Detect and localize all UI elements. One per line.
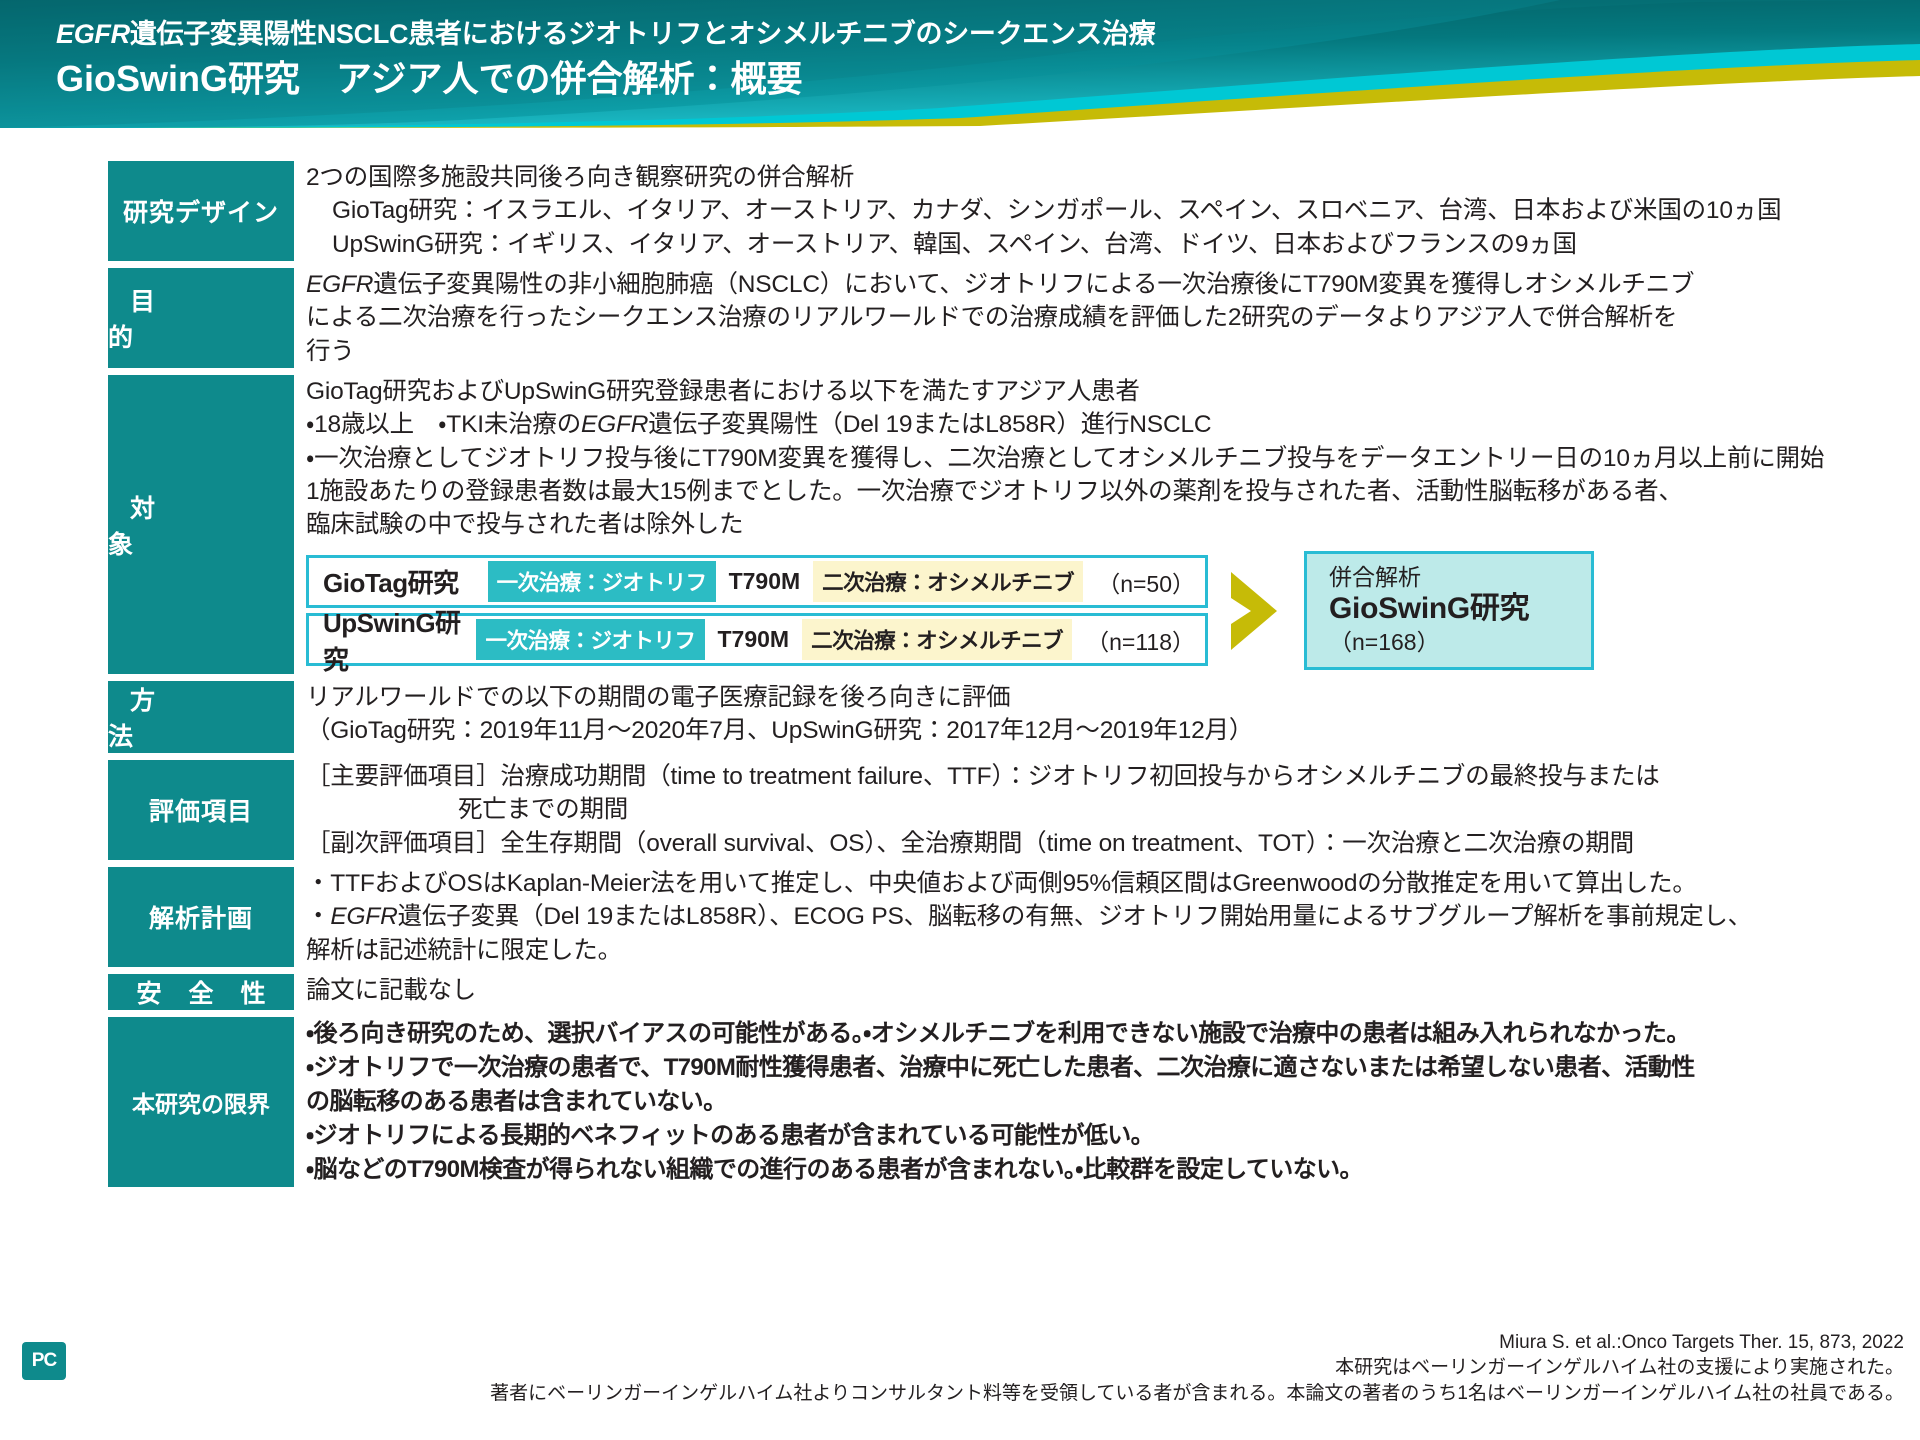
pooled-analysis-box: 併合解析 GioSwinG研究 （n=168）: [1304, 551, 1594, 670]
limitations-line-3: の脳転移のある患者は含まれていない。: [306, 1085, 1904, 1119]
label-safety: 安 全 性: [108, 974, 294, 1010]
content-subjects: GioTag研究およびUpSwinG研究登録患者における以下を満たすアジア人患者…: [294, 375, 1920, 674]
content-limitations: ・後ろ向き研究のため、選択バイアスの可能性がある。・オシメルチニブを利用できない…: [294, 1017, 1920, 1187]
limitations-line-2: ・ジオトリフで一次治療の患者で、T790M耐性獲得患者、治療中に死亡した患者、二…: [306, 1051, 1904, 1085]
objective-line-3: 行う: [306, 335, 1904, 368]
subjects-line-2a: ・18歳以上 ・TKI未治療の: [306, 411, 581, 438]
row-safety: 安 全 性 論文に記載なし: [0, 974, 1920, 1010]
limitations-line-5: ・脳などのT790M検査が得られない組織での進行のある患者が含まれない。・比較群…: [306, 1153, 1904, 1187]
row-limitations: 本研究の限界 ・後ろ向き研究のため、選択バイアスの可能性がある。・オシメルチニブ…: [0, 1017, 1920, 1187]
limitations-line-1: ・後ろ向き研究のため、選択バイアスの可能性がある。・オシメルチニブを利用できない…: [306, 1017, 1904, 1051]
limitations-line-4: ・ジオトリフによる長期的ベネフィットのある患者が含まれている可能性が低い。: [306, 1119, 1904, 1153]
slide-footer: PC Miura S. et al.:Onco Targets Ther. 15…: [0, 1330, 1920, 1440]
footnote-citation: Miura S. et al.:Onco Targets Ther. 15, 8…: [490, 1330, 1904, 1355]
subjects-gene: EGFR: [581, 411, 648, 438]
footnote-block: Miura S. et al.:Onco Targets Ther. 15, 8…: [490, 1330, 1904, 1406]
slide-header: EGFR遺伝子変異陽性NSCLC患者におけるジオトリフとオシメルチニブのシークエ…: [0, 0, 1920, 128]
pooled-n-value: （n=168）: [1329, 628, 1591, 656]
study-boxes: GioTag研究 一次治療：ジオトリフ T790M 二次治療：オシメルチニブ （…: [306, 555, 1208, 666]
first-line-pill-upswing: 一次治療：ジオトリフ: [476, 619, 704, 660]
row-subjects: 対 象 GioTag研究およびUpSwinG研究登録患者における以下を満たすアジ…: [0, 375, 1920, 674]
study-name-upswing: UpSwinG研究: [323, 603, 476, 677]
study-flow-diagram: GioTag研究 一次治療：ジオトリフ T790M 二次治療：オシメルチニブ （…: [306, 551, 1904, 670]
content-study-design: 2つの国際多施設共同後ろ向き観察研究の併合解析 GioTag研究：イスラエル、イ…: [294, 161, 1920, 261]
label-subjects: 対 象: [108, 375, 294, 674]
subjects-line-3: ・一次治療としてジオトリフ投与後にT790M変異を獲得し、二次治療としてオシメル…: [306, 442, 1904, 475]
chevron-right-icon-svg: [1225, 568, 1287, 654]
content-objective: EGFR遺伝子変異陽性の非小細胞肺癌（NSCLC）において、ジオトリフによる一次…: [294, 268, 1920, 368]
objective-line-2: による二次治療を行ったシークエンス治療のリアルワールドでの治療成績を評価した2研…: [306, 301, 1904, 334]
subjects-line-4: 1施設あたりの登録患者数は最大15例までとした。一次治療でジオトリフ以外の薬剤を…: [306, 475, 1904, 508]
pc-logo-icon: PC: [22, 1342, 66, 1380]
analysis-gene: EGFR: [330, 903, 397, 930]
row-method: 方 法 リアルワールドでの以下の期間の電子医療記録を後ろ向きに評価 （GioTa…: [0, 681, 1920, 753]
second-line-pill-upswing: 二次治療：オシメルチニブ: [802, 619, 1072, 660]
analysis-line-2: ・EGFR遺伝子変異（Del 19またはL858R）、ECOG PS、脳転移の有…: [306, 900, 1904, 933]
row-study-design: 研究デザイン 2つの国際多施設共同後ろ向き観察研究の併合解析 GioTag研究：…: [0, 161, 1920, 261]
row-analysis-plan: 解析計画 ・TTFおよびOSはKaplan-Meier法を用いて推定し、中央値お…: [0, 867, 1920, 967]
row-endpoints: 評価項目 ［主要評価項目］治療成功期間（time to treatment fa…: [0, 760, 1920, 860]
content-safety: 論文に記載なし: [294, 974, 1920, 1010]
study-name-giotag: GioTag研究: [323, 563, 488, 600]
header-subtitle-rest: 遺伝子変異陽性NSCLC患者におけるジオトリフとオシメルチニブのシークエンス治療: [130, 19, 1155, 49]
first-line-pill-giotag: 一次治療：ジオトリフ: [488, 561, 716, 602]
slide-body: 研究デザイン 2つの国際多施設共同後ろ向き観察研究の併合解析 GioTag研究：…: [0, 128, 1920, 1187]
n-value-giotag: （n=50）: [1083, 565, 1195, 599]
footnote-funding: 本研究はベーリンガーインゲルハイム社の支援により実施された。: [490, 1355, 1904, 1380]
mutation-label-giotag: T790M: [716, 568, 814, 595]
objective-gene: EGFR: [306, 271, 373, 298]
endpoints-line-2: 死亡までの期間: [306, 793, 1904, 826]
subjects-line-5: 臨床試験の中で投与された者は除外した: [306, 508, 1904, 541]
design-line-2: GioTag研究：イスラエル、イタリア、オーストリア、カナダ、シンガポール、スペ…: [306, 194, 1904, 227]
second-line-pill-giotag: 二次治療：オシメルチニブ: [813, 561, 1083, 602]
objective-line-1-rest: 遺伝子変異陽性の非小細胞肺癌（NSCLC）において、ジオトリフによる一次治療後に…: [373, 271, 1694, 298]
page-title: GioSwinG研究 アジア人での併合解析：概要: [56, 56, 1155, 103]
header-subtitle: EGFR遺伝子変異陽性NSCLC患者におけるジオトリフとオシメルチニブのシークエ…: [56, 18, 1155, 52]
method-line-2: （GioTag研究：2019年11月〜2020年7月、UpSwinG研究：201…: [306, 714, 1904, 747]
header-subtitle-gene: EGFR: [56, 19, 130, 49]
pooled-study-name: GioSwinG研究: [1329, 591, 1591, 628]
study-row-upswing: UpSwinG研究 一次治療：ジオトリフ T790M 二次治療：オシメルチニブ …: [306, 613, 1208, 666]
label-study-design: 研究デザイン: [108, 161, 294, 261]
content-method: リアルワールドでの以下の期間の電子医療記録を後ろ向きに評価 （GioTag研究：…: [294, 681, 1920, 753]
label-objective: 目 的: [108, 268, 294, 368]
pooled-caption: 併合解析: [1329, 563, 1591, 591]
analysis-line-2a: ・: [306, 903, 330, 930]
chevron-right-icon: [1208, 568, 1304, 654]
safety-line-1: 論文に記載なし: [306, 974, 1904, 1007]
design-line-3: UpSwinG研究：イギリス、イタリア、オーストリア、韓国、スペイン、台湾、ドイ…: [306, 228, 1904, 261]
subjects-line-2b: 遺伝子変異陽性（Del 19またはL858R）進行NSCLC: [648, 411, 1211, 438]
analysis-line-3: 解析は記述統計に限定した。: [306, 934, 1904, 967]
label-analysis-plan: 解析計画: [108, 867, 294, 967]
analysis-line-1: ・TTFおよびOSはKaplan-Meier法を用いて推定し、中央値および両側9…: [306, 867, 1904, 900]
endpoints-line-1: ［主要評価項目］治療成功期間（time to treatment failure…: [306, 760, 1904, 793]
row-objective: 目 的 EGFR遺伝子変異陽性の非小細胞肺癌（NSCLC）において、ジオトリフに…: [0, 268, 1920, 368]
mutation-label-upswing: T790M: [705, 626, 803, 653]
footnote-disclosure: 著者にベーリンガーインゲルハイム社よりコンサルタント料等を受領している者が含まれ…: [490, 1381, 1904, 1406]
label-method: 方 法: [108, 681, 294, 753]
method-line-1: リアルワールドでの以下の期間の電子医療記録を後ろ向きに評価: [306, 681, 1904, 714]
design-line-1: 2つの国際多施設共同後ろ向き観察研究の併合解析: [306, 161, 1904, 194]
content-analysis-plan: ・TTFおよびOSはKaplan-Meier法を用いて推定し、中央値および両側9…: [294, 867, 1920, 967]
subjects-line-1: GioTag研究およびUpSwinG研究登録患者における以下を満たすアジア人患者: [306, 375, 1904, 408]
analysis-line-2b: 遺伝子変異（Del 19またはL858R）、ECOG PS、脳転移の有無、ジオト…: [398, 903, 1752, 930]
label-limitations: 本研究の限界: [108, 1017, 294, 1187]
label-endpoints: 評価項目: [108, 760, 294, 860]
study-row-giotag: GioTag研究 一次治療：ジオトリフ T790M 二次治療：オシメルチニブ （…: [306, 555, 1208, 608]
n-value-upswing: （n=118）: [1072, 623, 1195, 657]
header-text-block: EGFR遺伝子変異陽性NSCLC患者におけるジオトリフとオシメルチニブのシークエ…: [56, 18, 1155, 103]
objective-line-1: EGFR遺伝子変異陽性の非小細胞肺癌（NSCLC）において、ジオトリフによる一次…: [306, 268, 1904, 301]
subjects-line-2: ・18歳以上 ・TKI未治療のEGFR遺伝子変異陽性（Del 19またはL858…: [306, 408, 1904, 441]
endpoints-line-3: ［副次評価項目］全生存期間（overall survival、OS）、全治療期間…: [306, 827, 1904, 860]
content-endpoints: ［主要評価項目］治療成功期間（time to treatment failure…: [294, 760, 1920, 860]
